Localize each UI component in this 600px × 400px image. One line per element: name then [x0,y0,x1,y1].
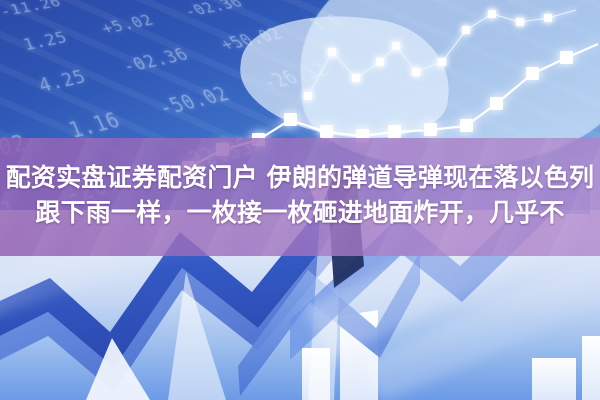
ticker-value: 4.25 [35,66,89,97]
ticker-value: -11.26 [0,0,64,20]
ticker-value: 1.25 [21,28,71,55]
ticker-value: +45.02 [90,0,154,2]
ticker-value: -1.25 [0,84,1,120]
thumbnail-image: -09.35 -0.35 21.18 -08.08 -11.26 45.02 2… [0,0,600,400]
caption-text: 配资实盘证券配资门户 伊朗的弹道导弹现在落以色列跟下雨一样，一枚接一枚砸进地面炸… [0,160,600,230]
ticker-value: +5.02 [98,11,157,38]
